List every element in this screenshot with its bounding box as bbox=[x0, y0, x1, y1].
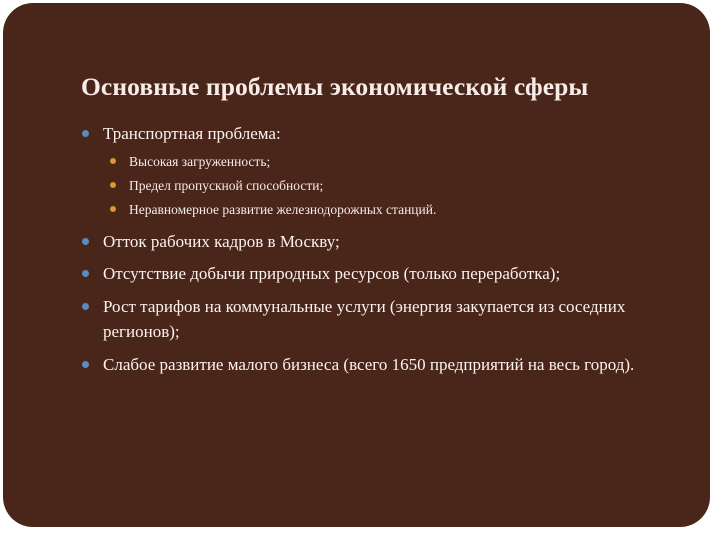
bullet-dot-icon bbox=[82, 303, 89, 310]
sub-list-item: Предел пропускной способности; bbox=[103, 175, 685, 196]
list-item-label: Рост тарифов на коммунальные услуги (эне… bbox=[103, 294, 685, 345]
sub-list-item: Высокая загруженность; bbox=[103, 151, 685, 172]
slide-content-panel: Основные проблемы экономической сферы Тр… bbox=[3, 3, 710, 527]
sub-bullet-list: Высокая загруженность; Предел пропускной… bbox=[103, 151, 685, 220]
bullet-dot-icon bbox=[82, 270, 89, 277]
list-item-label: Отсутствие добычи природных ресурсов (то… bbox=[103, 261, 685, 287]
bullet-list: Транспортная проблема: Высокая загруженн… bbox=[77, 121, 685, 384]
list-item-label: Отток рабочих кадров в Москву; bbox=[103, 229, 685, 255]
page-title: Основные проблемы экономической сферы bbox=[81, 71, 681, 102]
list-item: Транспортная проблема: Высокая загруженн… bbox=[77, 121, 685, 220]
bullet-dot-icon bbox=[82, 238, 89, 245]
list-item: Отсутствие добычи природных ресурсов (то… bbox=[77, 261, 685, 287]
sub-list-item-label: Предел пропускной способности; bbox=[129, 178, 323, 193]
list-item-label: Транспортная проблема: bbox=[103, 121, 685, 147]
bullet-dot-icon bbox=[82, 130, 89, 137]
slide-canvas: Основные проблемы экономической сферы Тр… bbox=[0, 0, 720, 540]
sub-list-item: Неравномерное развитие железнодорожных с… bbox=[103, 199, 685, 220]
list-item: Рост тарифов на коммунальные услуги (эне… bbox=[77, 294, 685, 345]
list-item: Отток рабочих кадров в Москву; bbox=[77, 229, 685, 255]
sub-bullet-dot-icon bbox=[110, 158, 116, 164]
sub-bullet-dot-icon bbox=[110, 206, 116, 212]
sub-list-item-label: Высокая загруженность; bbox=[129, 154, 270, 169]
sub-list-item-label: Неравномерное развитие железнодорожных с… bbox=[129, 202, 436, 217]
bullet-dot-icon bbox=[82, 361, 89, 368]
list-item: Слабое развитие малого бизнеса (всего 16… bbox=[77, 352, 685, 378]
sub-bullet-dot-icon bbox=[110, 182, 116, 188]
list-item-label: Слабое развитие малого бизнеса (всего 16… bbox=[103, 352, 685, 378]
